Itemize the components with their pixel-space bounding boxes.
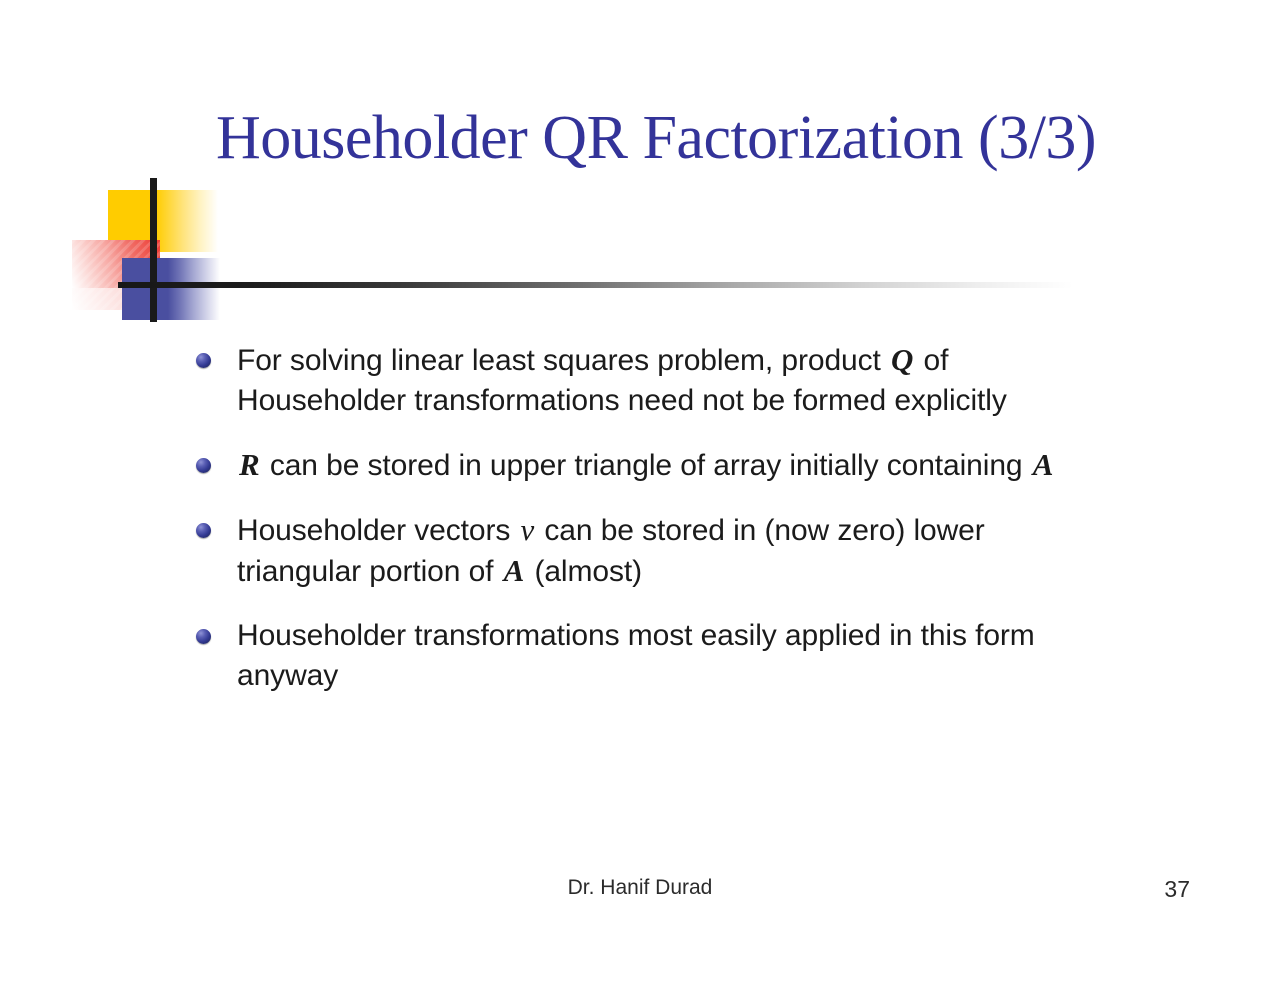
- bullet-text: Householder transformations most easily …: [237, 616, 1116, 696]
- blue-square-icon: [122, 258, 168, 320]
- bullet-list: For solving linear least squares problem…: [196, 340, 1116, 720]
- red-square-icon: [72, 240, 160, 288]
- list-item: R can be stored in upper triangle of arr…: [196, 445, 1116, 486]
- list-item: Householder transformations most easily …: [196, 616, 1116, 696]
- slide-canvas: Householder QR Factorization (3/3) For s…: [0, 0, 1280, 989]
- math-variable: v: [518, 512, 536, 547]
- math-variable: A: [502, 553, 527, 588]
- blends-decoration: [0, 0, 420, 360]
- page-number: 37: [1164, 876, 1190, 903]
- red-square-gradient: [72, 288, 160, 310]
- bullet-sphere-icon: [196, 458, 211, 473]
- yellow-square-gradient: [156, 190, 218, 252]
- footer-author: Dr. Hanif Durad: [0, 876, 1280, 900]
- yellow-square-icon: [108, 190, 156, 252]
- vertical-bar-divider: [150, 178, 157, 322]
- bullet-text: Householder vectors v can be stored in (…: [237, 510, 1116, 592]
- blue-square-gradient: [168, 258, 220, 320]
- math-variable: R: [237, 447, 262, 482]
- slide-title: Householder QR Factorization (3/3): [216, 96, 1116, 180]
- list-item: Householder vectors v can be stored in (…: [196, 510, 1116, 592]
- bullet-sphere-icon: [196, 523, 211, 538]
- bullet-text: For solving linear least squares problem…: [237, 340, 1116, 421]
- bullet-sphere-icon: [196, 629, 211, 644]
- bullet-text: R can be stored in upper triangle of arr…: [237, 445, 1116, 486]
- math-variable: A: [1031, 447, 1056, 482]
- math-variable: Q: [889, 342, 915, 377]
- horizontal-rule-divider: [118, 282, 1073, 288]
- bullet-sphere-icon: [196, 353, 211, 368]
- list-item: For solving linear least squares problem…: [196, 340, 1116, 421]
